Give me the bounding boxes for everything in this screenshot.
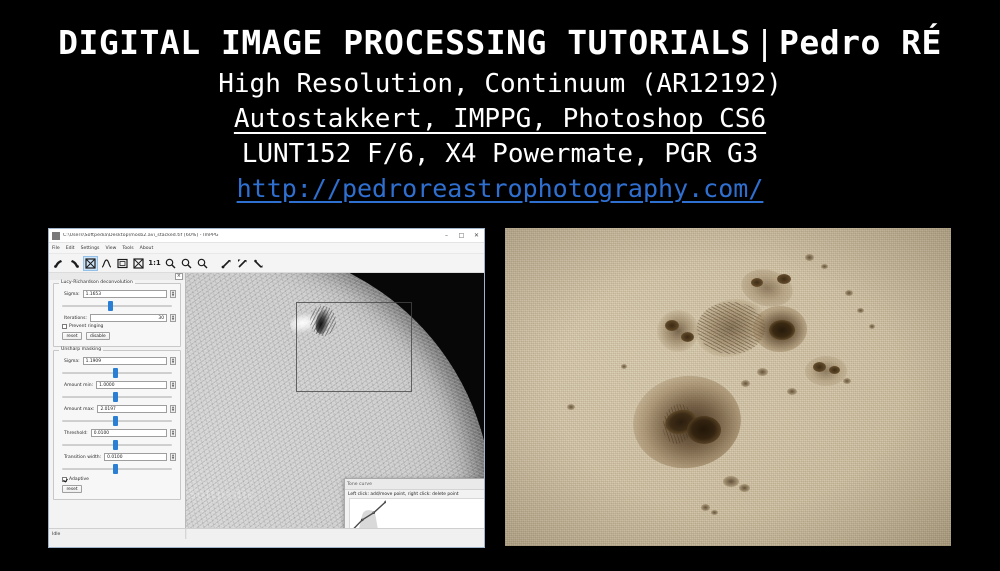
um-sigma-row: Sigma: 1.1909 ▲▼ [64,357,176,365]
lr-sigma-row: Sigma: 1.1653 ▲▼ [64,290,176,298]
lr-iterations-input[interactable]: 30 [90,314,167,322]
lr-disable-button[interactable]: disable [86,332,110,340]
status-secondary-pane [186,529,484,539]
subtitle-subject: High Resolution, Continuum (AR12192) [0,71,1000,97]
selection-rectangle[interactable] [296,302,412,392]
minimize-button[interactable]: – [439,229,454,242]
window-title: C:\Users\Softpedia\Desktop\mosb2.avi_sta… [63,233,439,238]
lr-button-row: reset disable [62,332,176,340]
zoom-out-icon[interactable] [179,256,194,271]
pore-right-a [805,254,814,261]
zoom-actual-icon[interactable]: 1:1 [147,256,162,271]
um-transition-slider-thumb[interactable] [113,464,118,474]
processing-controls-panel: × Lucy-Richardson deconvolution Sigma: 1… [49,273,186,539]
um-button-row: reset [62,485,176,493]
penumbra-right-cluster [805,356,847,386]
page-title: DIGITAL IMAGE PROCESSING TUTORIALS|Pedro… [0,26,1000,59]
umbra-left-a [665,320,679,331]
align-left-icon[interactable] [219,256,234,271]
um-amount-max-spinner[interactable]: ▲▼ [170,405,176,413]
um-amount-max-slider[interactable] [62,415,172,426]
umbra-top-b [777,274,791,284]
align-right-icon[interactable] [251,256,266,271]
umbra-top-a [751,278,763,287]
panel-header: × [49,273,185,280]
lr-iterations-label: Iterations: [64,316,87,321]
subtitle-equipment: LUNT152 F/6, X4 Powermate, PGR G3 [0,141,1000,167]
lr-sigma-slider-track [62,305,172,307]
um-amount-max-input[interactable]: 2.0197 [97,405,167,413]
penumbra-left-cluster [657,310,699,352]
um-transition-slider[interactable] [62,463,172,474]
pore-right-c [845,290,853,296]
zoom-actual-label: 1:1 [148,259,161,267]
lr-iterations-row: Iterations: 30 ▲▼ [64,314,176,322]
pore-center-a [787,388,797,395]
menu-about[interactable]: About [140,246,154,251]
um-amount-min-slider[interactable] [62,391,172,402]
status-text: Idle [49,529,186,539]
umbra-right-a [813,362,826,372]
sunspot-photograph [505,228,951,546]
page-title-author: Pedro RÉ [779,23,942,62]
save-image-icon[interactable] [67,256,82,271]
pore-bottom-c [701,504,710,511]
menu-file[interactable]: File [52,246,60,251]
um-threshold-row: Threshold: 0.0100 ▲▼ [64,429,176,437]
status-bar: Idle [49,528,484,539]
um-amount-max-label: Amount max: [64,407,94,412]
prevent-ringing-row[interactable]: Prevent ringing [62,324,176,329]
um-amount-min-input[interactable]: 1.0000 [96,381,167,389]
um-amount-max-row: Amount max: 2.0197 ▲▼ [64,405,176,413]
panel-close-icon[interactable]: × [175,273,183,280]
zoom-custom-icon[interactable] [195,256,210,271]
um-amount-min-slider-thumb[interactable] [113,392,118,402]
prevent-ringing-checkbox[interactable] [62,324,67,329]
close-button[interactable]: ✕ [469,229,484,242]
umbra-right-b [829,366,840,374]
pore-left-b [621,364,627,369]
subtitle-software: Autostakkert, IMPPG, Photoshop CS6 [0,106,1000,132]
page-title-separator: | [751,23,779,62]
pore-bottom-d [711,510,718,515]
menu-edit[interactable]: Edit [66,246,75,251]
tone-curve-hint: Left click: add/move point, right click:… [345,490,485,498]
um-transition-row: Transition width: 0.0100 ▲▼ [64,453,176,461]
align-center-icon[interactable] [235,256,250,271]
selection-toggle-icon[interactable] [131,256,146,271]
pore-bottom-b [739,484,750,492]
fit-window-icon[interactable] [115,256,130,271]
select-area-icon[interactable] [83,256,98,271]
website-link-row: http://pedroreastrophotography.com/ [0,167,1000,201]
tone-curve-icon[interactable] [99,256,114,271]
lr-iterations-spinner[interactable]: ▲▼ [170,314,176,322]
um-sigma-slider[interactable] [62,367,172,378]
unsharp-masking-title: Unsharp masking [59,347,103,352]
tone-curve-title-bar[interactable]: Tone curve [345,479,485,490]
menu-bar: File Edit Settings View Tools About [49,243,484,254]
um-reset-button[interactable]: reset [62,485,82,493]
granulation-texture [505,228,951,546]
imppg-application-window[interactable]: C:\Users\Softpedia\Desktop\mosb2.avi_sta… [48,228,485,548]
pore-center-b [757,368,768,376]
um-amount-min-label: Amount min: [64,383,93,388]
tool-bar: 1:1 [49,254,484,273]
um-threshold-spinner[interactable]: ▲▼ [170,429,176,437]
unsharp-masking-group: Unsharp masking Sigma: 1.1909 ▲▼ Amount … [53,350,181,500]
pore-center-c [741,380,750,387]
maximize-button[interactable]: □ [454,229,469,242]
zoom-in-icon[interactable] [163,256,178,271]
curve-point [385,501,386,503]
um-threshold-slider[interactable] [62,439,172,450]
umbra-left-b [681,332,694,342]
um-threshold-slider-thumb[interactable] [113,440,118,450]
lr-sigma-slider-thumb[interactable] [108,301,113,311]
toolbar-separator [211,256,218,271]
um-sigma-input[interactable]: 1.1909 [83,357,167,365]
pore-right-b [821,264,828,269]
pore-left-a [567,404,575,410]
curve-point [373,512,375,514]
title-block: DIGITAL IMAGE PROCESSING TUTORIALS|Pedro… [0,0,1000,222]
page-title-left: DIGITAL IMAGE PROCESSING TUTORIALS [58,23,751,62]
adaptive-label: Adaptive [69,477,89,482]
website-link[interactable]: http://pedroreastrophotography.com/ [237,176,764,201]
pore-bottom-a [723,476,739,487]
lr-sigma-slider[interactable] [62,300,172,311]
imppg-title-bar[interactable]: C:\Users\Softpedia\Desktop\mosb2.avi_sta… [49,229,484,243]
lr-reset-button[interactable]: reset [62,332,82,340]
um-amount-min-spinner[interactable]: ▲▼ [170,381,176,389]
lr-sigma-input[interactable]: 1.1653 [83,290,167,298]
um-sigma-label: Sigma: [64,359,80,364]
pore-right-e [869,324,875,329]
um-sigma-slider-thumb[interactable] [113,368,118,378]
umbra-upper-right [769,320,795,340]
lucy-richardson-title: Lucy-Richardson deconvolution [59,280,135,285]
prevent-ringing-label: Prevent ringing [69,324,103,329]
um-amount-max-slider-thumb[interactable] [113,416,118,426]
menu-settings[interactable]: Settings [81,246,100,251]
pore-right-d [857,308,864,313]
um-transition-spinner[interactable]: ▲▼ [170,453,176,461]
um-transition-label: Transition width: [64,455,101,460]
lucy-richardson-group: Lucy-Richardson deconvolution Sigma: 1.1… [53,283,181,347]
app-icon [52,232,60,240]
curve-point [361,519,363,521]
menu-view[interactable]: View [105,246,116,251]
window-body: × Lucy-Richardson deconvolution Sigma: 1… [49,273,484,539]
menu-tools[interactable]: Tools [122,246,133,251]
tone-curve-title: Tone curve [347,482,485,487]
um-threshold-input[interactable]: 0.0100 [91,429,167,437]
um-sigma-spinner[interactable]: ▲▼ [170,357,176,365]
um-amount-min-row: Amount min: 1.0000 ▲▼ [64,381,176,389]
pore-right-f [843,378,851,384]
adaptive-row[interactable]: Adaptive [62,477,176,482]
um-threshold-label: Threshold: [64,431,88,436]
solar-image-canvas[interactable]: Softpedia Tone curve Left click: add/mov… [186,273,485,539]
umbra-main-b [687,416,721,444]
lr-sigma-spinner[interactable]: ▲▼ [170,290,176,298]
um-transition-input[interactable]: 0.0100 [104,453,167,461]
adaptive-checkbox[interactable] [62,477,67,482]
load-image-icon[interactable] [51,256,66,271]
slide-root: DIGITAL IMAGE PROCESSING TUTORIALS|Pedro… [0,0,1000,571]
lr-sigma-label: Sigma: [64,292,80,297]
